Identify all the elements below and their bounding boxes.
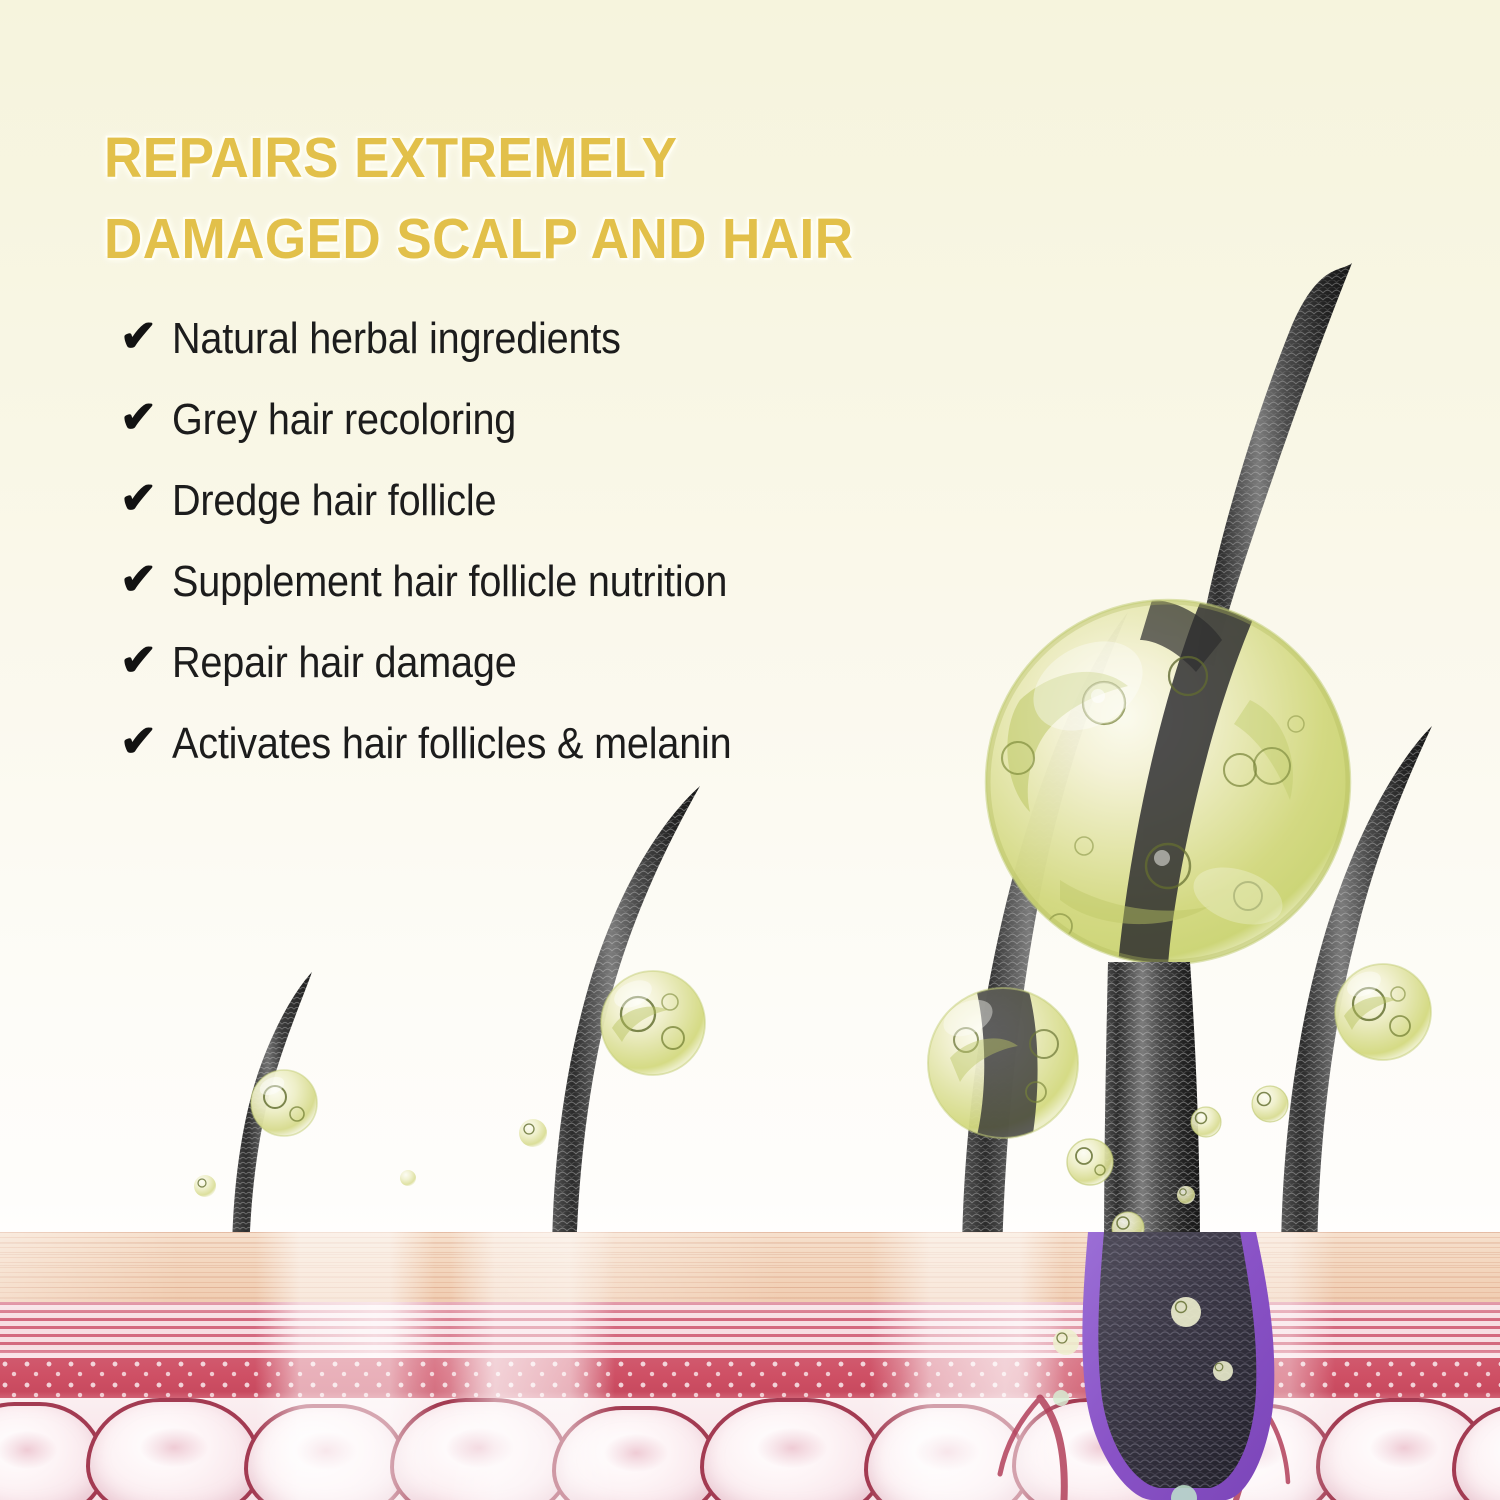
list-item: ✔ Repair hair damage <box>120 622 980 703</box>
benefit-label: Grey hair recoloring <box>172 395 516 445</box>
benefit-label: Dredge hair follicle <box>172 476 496 526</box>
benefit-label: Supplement hair follicle nutrition <box>172 557 727 607</box>
list-item: ✔ Activates hair follicles & melanin <box>120 703 980 784</box>
check-icon: ✔ <box>120 558 172 602</box>
benefits-list: ✔ Natural herbal ingredients ✔ Grey hair… <box>120 298 980 784</box>
list-item: ✔ Grey hair recoloring <box>120 379 980 460</box>
benefit-label: Repair hair damage <box>172 638 517 688</box>
check-icon: ✔ <box>120 396 172 440</box>
product-infographic: REPAIRS EXTREMELY DAMAGED SCALP AND HAIR… <box>0 0 1500 1500</box>
list-item: ✔ Supplement hair follicle nutrition <box>120 541 980 622</box>
list-item: ✔ Dredge hair follicle <box>120 460 980 541</box>
check-icon: ✔ <box>120 315 172 359</box>
list-item: ✔ Natural herbal ingredients <box>120 298 980 379</box>
check-icon: ✔ <box>120 720 172 764</box>
benefit-label: Activates hair follicles & melanin <box>172 719 732 769</box>
check-icon: ✔ <box>120 639 172 683</box>
page-title: REPAIRS EXTREMELY DAMAGED SCALP AND HAIR <box>104 118 941 280</box>
benefit-label: Natural herbal ingredients <box>172 314 621 364</box>
check-icon: ✔ <box>120 477 172 521</box>
